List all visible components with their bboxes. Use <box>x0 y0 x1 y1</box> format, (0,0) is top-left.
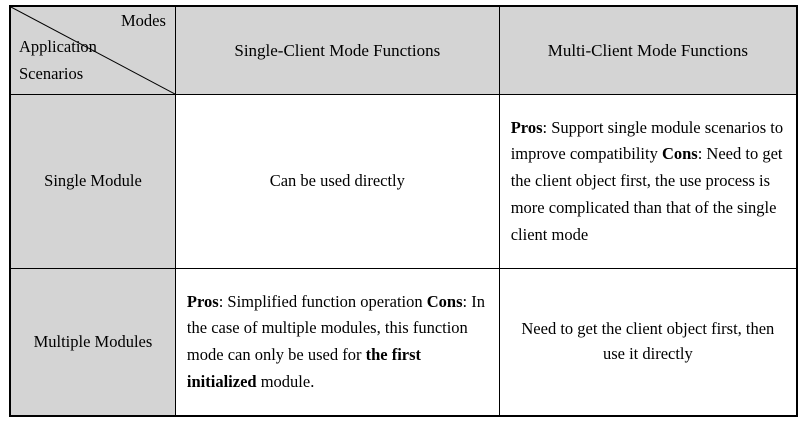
cell-multiple-modules-multi-client-text: Need to get the client object first, the… <box>500 317 796 367</box>
table-page: Modes Application Scenarios Single-Clien… <box>0 0 809 422</box>
row-header-multiple-modules: Multiple Modules <box>10 269 175 417</box>
pros-label: Pros <box>187 292 219 311</box>
column-header-single-client-label: Single-Client Mode Functions <box>176 37 499 65</box>
table-row-multiple-modules: Multiple Modules Pros: Simplified functi… <box>10 269 797 417</box>
cell-multiple-modules-multi-client: Need to get the client object first, the… <box>499 269 797 417</box>
pros-label: Pros <box>511 118 543 137</box>
cons-label: Cons <box>662 144 698 163</box>
cell-single-module-multi-client: Pros: Support single module scenarios to… <box>499 95 797 269</box>
corner-header-cell: Modes Application Scenarios <box>10 6 175 95</box>
row-header-single-module: Single Module <box>10 95 175 269</box>
column-header-single-client: Single-Client Mode Functions <box>175 6 499 95</box>
corner-application-label: Application <box>19 34 97 61</box>
cell-single-module-single-client-text: Can be used directly <box>176 169 499 194</box>
cons-text-part2: module. <box>257 372 315 391</box>
table-row-single-module: Single Module Can be used directly Pros:… <box>10 95 797 269</box>
comparison-table: Modes Application Scenarios Single-Clien… <box>9 5 798 417</box>
table-header-row: Modes Application Scenarios Single-Clien… <box>10 6 797 95</box>
cell-single-module-multi-client-text: Pros: Support single module scenarios to… <box>500 110 796 254</box>
row-header-multiple-modules-label: Multiple Modules <box>11 329 175 356</box>
pros-text: : Simplified function operation <box>219 292 423 311</box>
cell-multiple-modules-single-client-text: Pros: Simplified function operation Cons… <box>176 284 499 401</box>
corner-header-inner: Modes Application Scenarios <box>11 7 175 94</box>
corner-modes-label: Modes <box>121 8 166 35</box>
cons-label: Cons <box>427 292 463 311</box>
column-header-multi-client: Multi-Client Mode Functions <box>499 6 797 95</box>
column-header-multi-client-label: Multi-Client Mode Functions <box>500 37 796 65</box>
cell-single-module-single-client: Can be used directly <box>175 95 499 269</box>
row-header-single-module-label: Single Module <box>11 168 175 195</box>
cell-multiple-modules-single-client: Pros: Simplified function operation Cons… <box>175 269 499 417</box>
corner-scenarios-label: Scenarios <box>19 61 83 88</box>
